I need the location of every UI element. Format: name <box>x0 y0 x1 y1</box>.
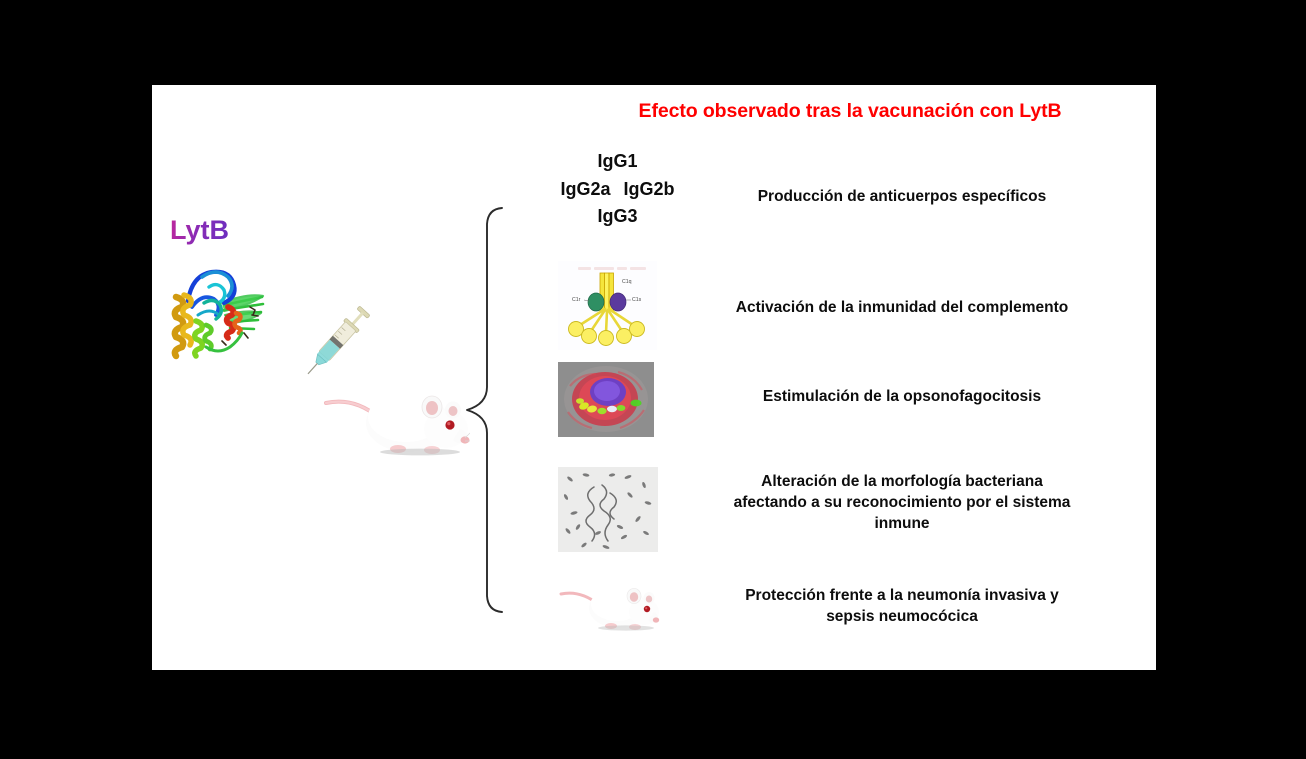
protected-mouse-image <box>558 568 660 636</box>
c1s-label: C1s <box>632 297 642 303</box>
slide-panel: Efecto observado tras la vacunación con … <box>152 85 1156 670</box>
igg-row-1: IgG1 <box>520 148 715 176</box>
effect-bacterial-morphology: Alteración de la morfología bacteriana a… <box>704 472 1100 534</box>
igg2b-label: IgG2b <box>624 179 675 199</box>
effect-line: afectando a su reconocimiento por el sis… <box>704 493 1100 514</box>
igg1-label: IgG1 <box>597 151 637 171</box>
effect-line: sepsis neumocócica <box>704 607 1100 628</box>
effect-antibody-production: Producción de anticuerpos específicos <box>704 187 1100 208</box>
effect-line: Producción de anticuerpos específicos <box>704 187 1100 208</box>
igg-row-2: IgG2aIgG2b <box>520 176 715 204</box>
igg3-label: IgG3 <box>597 206 637 226</box>
igg-row-3: IgG3 <box>520 203 715 231</box>
effect-line: Activación de la inmunidad del complemen… <box>704 298 1100 319</box>
igg-isotype-group: IgG1 IgG2aIgG2b IgG3 <box>520 148 715 231</box>
complement-complex-image: C1q C1r C1s <box>558 261 657 350</box>
effect-complement-activation: Activación de la inmunidad del complemen… <box>704 298 1100 319</box>
laboratory-mouse-icon <box>320 367 470 463</box>
c1q-label: C1q <box>622 279 632 285</box>
igg2a-label: IgG2a <box>560 179 610 199</box>
c1r-label: C1r <box>572 297 581 303</box>
opsonophagocytosis-image <box>558 362 654 437</box>
antigen-label: LytB <box>170 215 229 246</box>
protein-structure-icon <box>162 263 270 363</box>
page-title: Efecto observado tras la vacunación con … <box>600 100 1100 123</box>
effect-line: inmune <box>704 514 1100 535</box>
effect-opsonophagocytosis: Estimulación de la opsonofagocitosis <box>704 387 1100 408</box>
grouping-brace <box>462 205 504 615</box>
effect-line: Protección frente a la neumonía invasiva… <box>704 586 1100 607</box>
bacterial-morphology-image <box>558 467 658 552</box>
effect-line: Estimulación de la opsonofagocitosis <box>704 387 1100 408</box>
effect-protection: Protección frente a la neumonía invasiva… <box>704 586 1100 628</box>
effect-line: Alteración de la morfología bacteriana <box>704 472 1100 493</box>
